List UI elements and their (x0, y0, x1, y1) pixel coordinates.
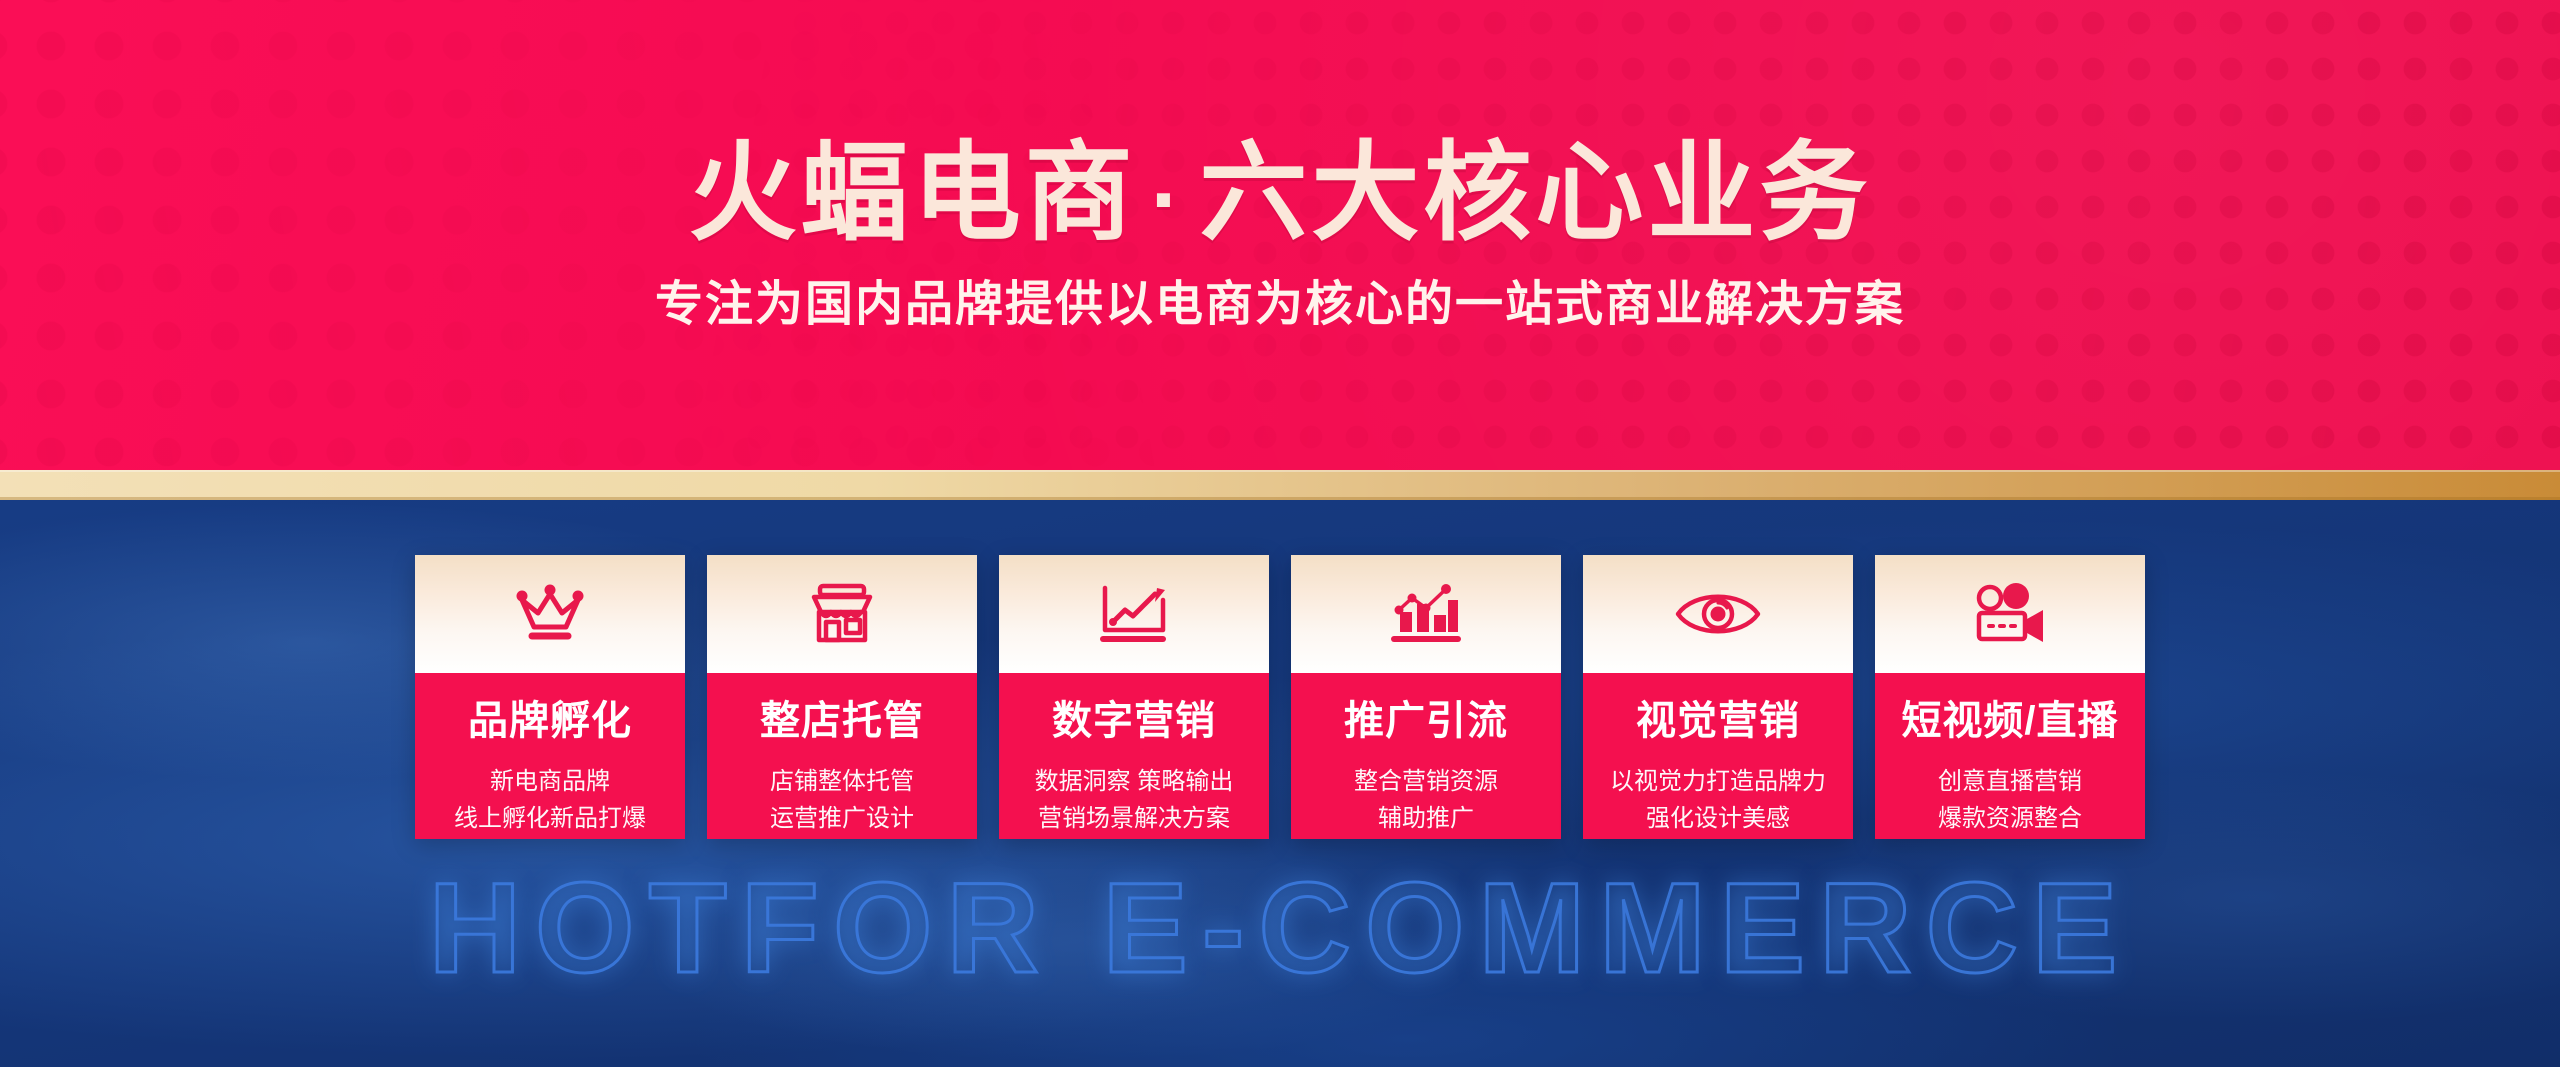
card-body: 视觉营销 以视觉力打造品牌力 强化设计美感 (1583, 673, 1853, 839)
service-card-visual-marketing[interactable]: 视觉营销 以视觉力打造品牌力 强化设计美感 (1583, 555, 1853, 839)
page-title-left: 火蝠电商 (689, 132, 1137, 253)
card-icon-area (415, 555, 685, 673)
card-icon-area (707, 555, 977, 673)
card-desc-line-2: 强化设计美感 (1646, 800, 1790, 837)
title-separator-dot: · (1137, 149, 1200, 251)
card-body: 短视频/直播 创意直播营销 爆款资源整合 (1875, 673, 2145, 839)
card-desc-line-2: 辅助推广 (1378, 800, 1474, 837)
card-desc-line-2: 爆款资源整合 (1938, 800, 2082, 837)
card-desc-line-2: 营销场景解决方案 (1038, 800, 1230, 837)
card-desc-line-1: 以视觉力打造品牌力 (1610, 763, 1826, 800)
card-desc-line-2: 运营推广设计 (770, 800, 914, 837)
service-card-brand-incubation[interactable]: 品牌孵化 新电商品牌 线上孵化新品打爆 (415, 555, 685, 839)
service-card-traffic-promotion[interactable]: 推广引流 整合营销资源 辅助推广 (1291, 555, 1561, 839)
card-icon-area (1875, 555, 2145, 673)
card-body: 品牌孵化 新电商品牌 线上孵化新品打爆 (415, 673, 685, 839)
card-title: 整店托管 (760, 699, 924, 743)
page-subtitle: 专注为国内品牌提供以电商为核心的一站式商业解决方案 (655, 264, 1905, 334)
card-icon-area (1291, 555, 1561, 673)
card-desc-line-1: 创意直播营销 (1938, 763, 2082, 800)
eye-icon (1674, 585, 1762, 643)
card-desc-line-1: 店铺整体托管 (770, 763, 914, 800)
brand-wordmark: HOTFOR E-COMMERCE (0, 855, 2560, 1002)
hero-section: 火蝠电商·六大核心业务 专注为国内品牌提供以电商为核心的一站式商业解决方案 (0, 0, 2560, 470)
card-body: 推广引流 整合营销资源 辅助推广 (1291, 673, 1561, 839)
growth-chart-icon (1099, 582, 1169, 646)
card-title: 短视频/直播 (1901, 699, 2118, 743)
service-card-digital-marketing[interactable]: 数字营销 数据洞察 策略输出 营销场景解决方案 (999, 555, 1269, 839)
card-icon-area (999, 555, 1269, 673)
promo-banner: 火蝠电商·六大核心业务 专注为国内品牌提供以电商为核心的一站式商业解决方案 HO… (0, 0, 2560, 1067)
card-title: 视觉营销 (1636, 699, 1800, 743)
bar-chart-trend-icon (1390, 582, 1462, 646)
crown-icon (512, 583, 588, 645)
page-title: 火蝠电商·六大核心业务 (689, 136, 1872, 250)
card-title: 推广引流 (1344, 699, 1508, 743)
storefront-icon (806, 582, 878, 646)
service-card-short-video-live[interactable]: 短视频/直播 创意直播营销 爆款资源整合 (1875, 555, 2145, 839)
card-title: 数字营销 (1052, 699, 1216, 743)
gold-divider (0, 470, 2560, 500)
card-body: 数字营销 数据洞察 策略输出 营销场景解决方案 (999, 673, 1269, 839)
card-title: 品牌孵化 (468, 699, 632, 743)
video-camera-icon (1971, 583, 2049, 645)
card-icon-area (1583, 555, 1853, 673)
card-desc-line-1: 数据洞察 策略输出 (1035, 763, 1234, 800)
service-card-row: 品牌孵化 新电商品牌 线上孵化新品打爆 (0, 555, 2560, 839)
card-desc-line-1: 新电商品牌 (490, 763, 610, 800)
service-card-store-management[interactable]: 整店托管 店铺整体托管 运营推广设计 (707, 555, 977, 839)
page-title-right: 六大核心业务 (1199, 132, 1871, 253)
card-desc-line-1: 整合营销资源 (1354, 763, 1498, 800)
card-desc-line-2: 线上孵化新品打爆 (454, 800, 646, 837)
card-body: 整店托管 店铺整体托管 运营推广设计 (707, 673, 977, 839)
